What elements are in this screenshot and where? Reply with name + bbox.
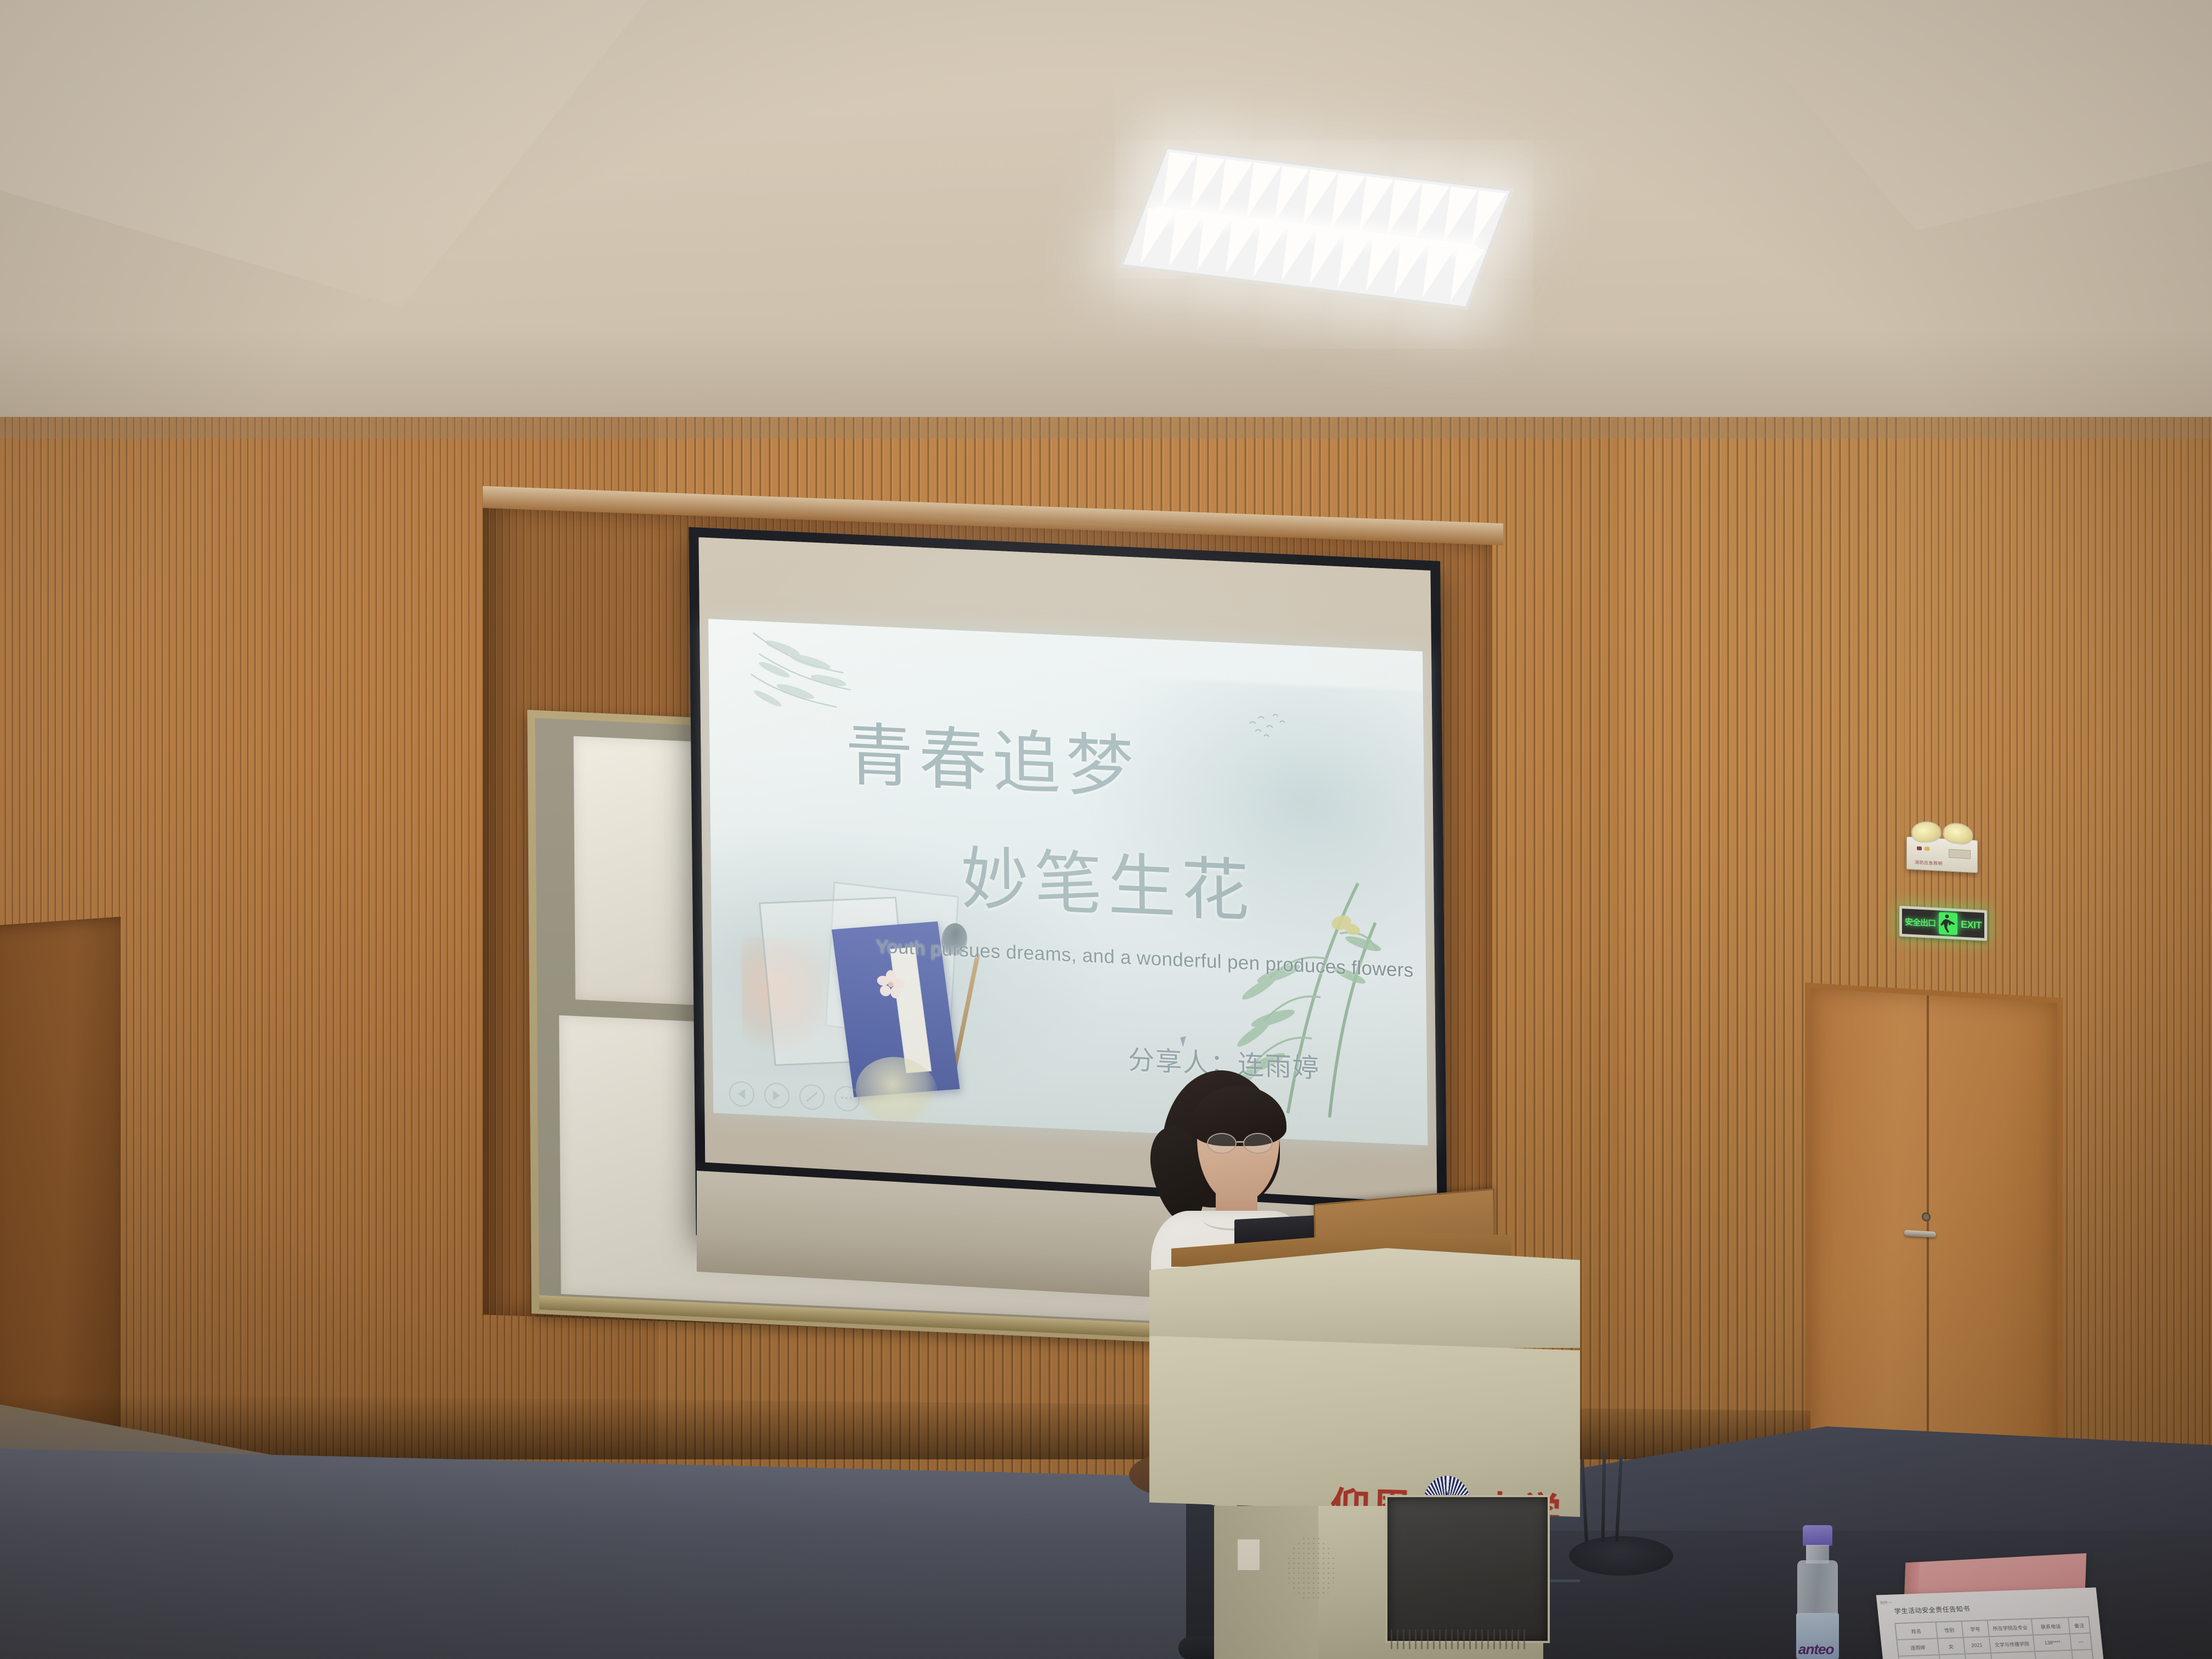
table-header-cell: 备注 — [2068, 1617, 2090, 1634]
exit-sign-english-text: EXIT — [1961, 918, 1982, 931]
table-cell — [2035, 1650, 2073, 1659]
paper-form-table: 姓名 性别 学号 所在学院及专业 联系电话 备注 连雨婷 女 2021 文学与传… — [1894, 1616, 2096, 1659]
ceiling-shadow — [0, 329, 2212, 439]
left-doorway-recess[interactable] — [0, 917, 121, 1475]
blossom-accent-icon — [877, 969, 906, 999]
table-cell: 138**** — [2033, 1634, 2072, 1651]
table-cell — [1899, 1655, 1941, 1659]
emergency-led-amber — [1925, 847, 1929, 850]
emergency-light-fixture: 消防应急照明 — [1906, 837, 1978, 873]
power-socket-icon[interactable] — [1237, 1539, 1260, 1571]
lectern-podium: 仰恩 大学 — [1149, 1232, 1580, 1659]
table-header-cell: 姓名 — [1895, 1622, 1937, 1640]
door-handle-icon[interactable] — [1904, 1230, 1936, 1238]
paper-form-title: 学生活动安全责任告知书 — [1894, 1604, 1971, 1616]
slide-title-line-2: 妙笔生花 — [960, 823, 1255, 935]
lecture-hall-scene: 青春追梦 妙笔生花 Youth pursues dreams, and a wo… — [0, 0, 2212, 1659]
table-cell: 连雨婷 — [1897, 1638, 1939, 1656]
door-lock-icon[interactable] — [1922, 1212, 1931, 1221]
podium-control-monitor[interactable] — [1385, 1495, 1550, 1643]
podium-ventilation-slots — [1391, 1629, 1528, 1649]
table-cell: 2021 — [1963, 1637, 1990, 1654]
flying-birds-icon — [1238, 707, 1302, 744]
running-person-icon — [1939, 912, 1957, 935]
pen-annotation-button[interactable] — [799, 1084, 824, 1110]
table-header-cell: 所在学院及专业 — [1987, 1619, 2033, 1637]
printed-form-sheet[interactable]: 附件一 学生活动安全责任告知书 姓名 性别 学号 所在学院及专业 联系电话 备注… — [1876, 1588, 2107, 1659]
slide-title-line-1: 青春追梦 — [845, 699, 1140, 811]
table-header-cell: 联系电话 — [2032, 1617, 2070, 1635]
table-cell — [2072, 1650, 2093, 1659]
table-cell: 文学与传播学院 — [1989, 1635, 2035, 1653]
table-cell: — — [2070, 1633, 2092, 1650]
emergency-brand-text: 消防应急照明 — [1915, 859, 1943, 867]
emergency-led-red — [1917, 847, 1922, 850]
bottle-cap[interactable] — [1803, 1525, 1832, 1546]
microphone-stand-base — [1569, 1536, 1673, 1576]
exit-sign: 安全出口 EXIT — [1899, 906, 1987, 941]
table-header-cell: 性别 — [1936, 1621, 1963, 1638]
table-cell — [1939, 1654, 1966, 1659]
water-bottle[interactable]: anteo — [1794, 1525, 1841, 1659]
exit-sign-chinese-text: 安全出口 — [1905, 916, 1936, 929]
bottle-brand-text: anteo — [1798, 1641, 1833, 1658]
right-double-door[interactable] — [1805, 983, 2063, 1481]
table-cell — [1990, 1651, 2036, 1659]
podium-speaker-grill-icon — [1286, 1536, 1336, 1602]
paper-corner-mark: 附件一 — [1880, 1600, 1892, 1606]
table-cell — [1965, 1653, 1992, 1659]
presenter-glasses-icon — [1207, 1133, 1277, 1155]
projected-slide: 青春追梦 妙笔生花 Youth pursues dreams, and a wo… — [708, 619, 1427, 1145]
next-slide-button[interactable] — [764, 1082, 789, 1108]
table-header-cell: 学号 — [1961, 1620, 1989, 1637]
bottle-label: anteo — [1796, 1613, 1839, 1659]
book-spine-label — [890, 946, 932, 1073]
emergency-label-plate — [1949, 849, 1971, 859]
table-cell: 女 — [1937, 1638, 1965, 1655]
more-options-button[interactable]: ••• — [834, 1085, 859, 1111]
previous-slide-button[interactable] — [729, 1081, 754, 1107]
podium-front-panel: 仰恩 大学 — [1149, 1336, 1580, 1517]
